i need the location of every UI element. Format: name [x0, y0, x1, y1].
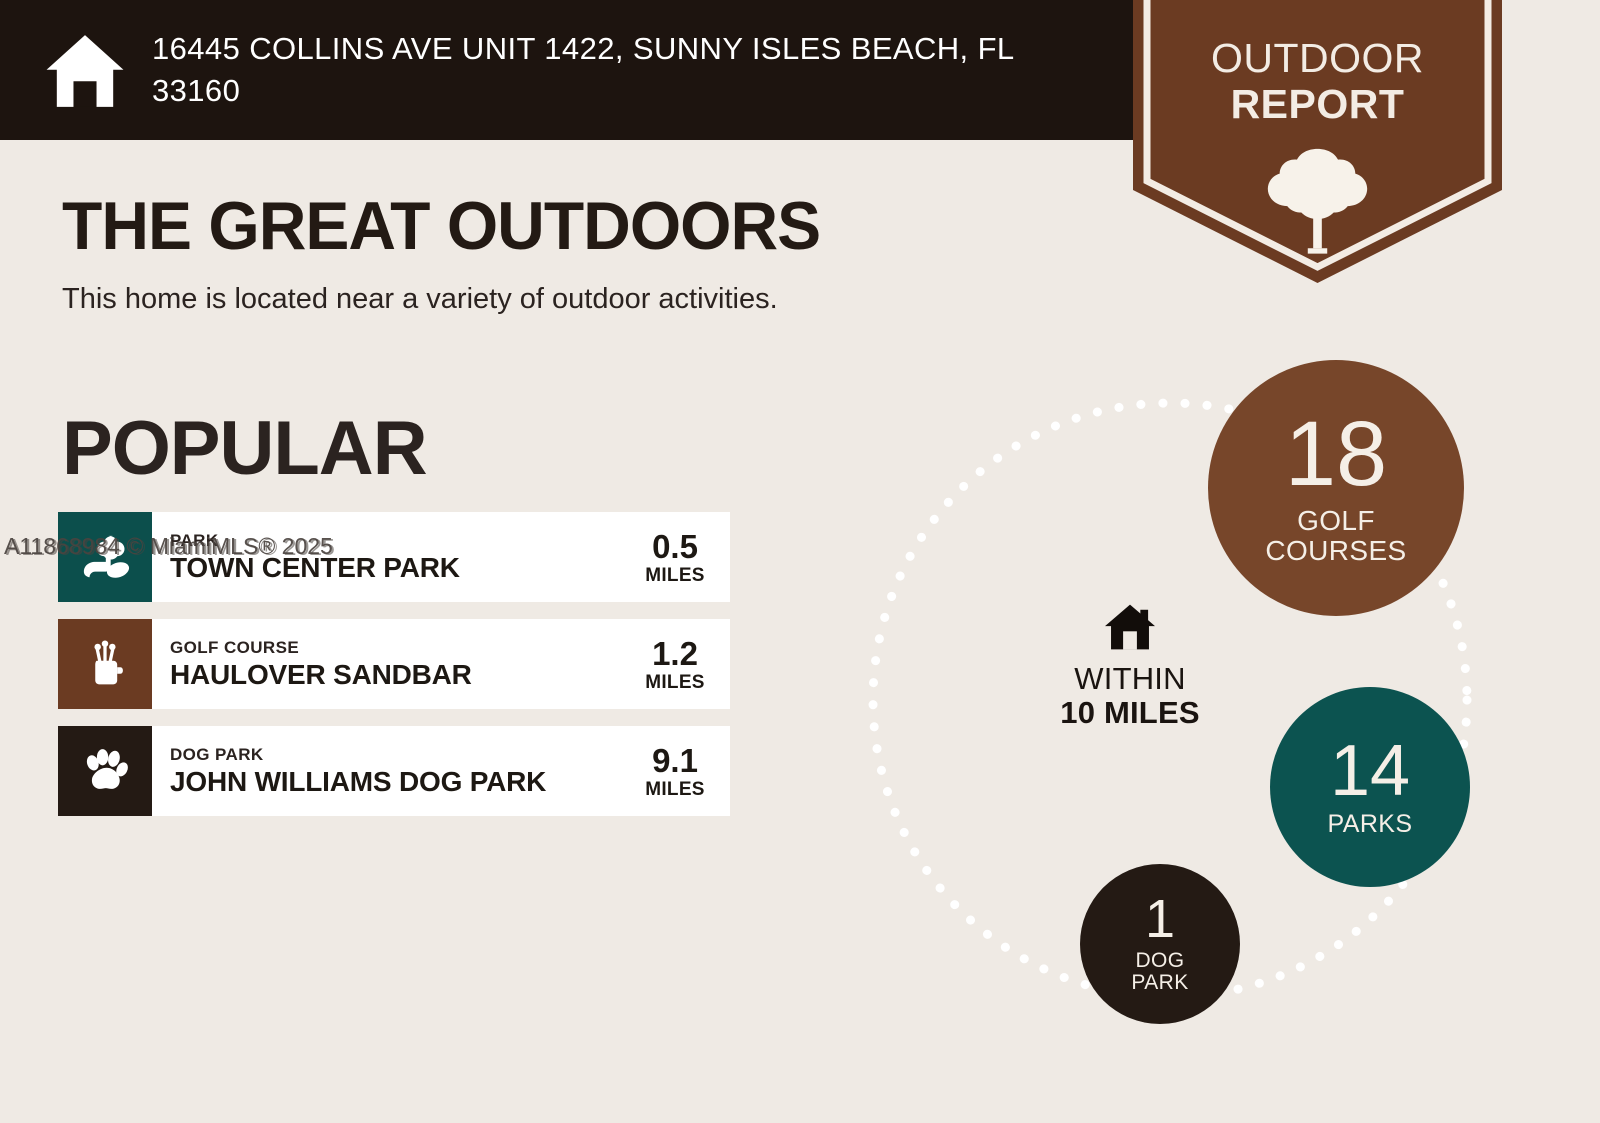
golf-bag-icon [79, 638, 131, 690]
stat-parks-label: PARKS [1328, 811, 1413, 838]
outdoor-report-badge: OUTDOOR REPORT [1133, 0, 1502, 283]
park-tree-icon [79, 531, 131, 583]
paw-print-icon-tile [58, 726, 152, 816]
badge-line2: REPORT [1133, 82, 1502, 128]
stat-dog-label-line1: DOG [1131, 950, 1188, 972]
diagram-center-line2: 10 MILES [1020, 696, 1240, 730]
list-item-distance: 9.1 MILES [628, 726, 730, 816]
list-item-text: DOG PARK JOHN WILLIAMS DOG PARK [152, 726, 628, 816]
golf-bag-icon-tile [58, 619, 152, 709]
park-tree-icon-tile [58, 512, 152, 602]
stat-parks-value: 14 [1330, 737, 1410, 805]
list-item-distance: 0.5 MILES [628, 512, 730, 602]
header-bar: 16445 COLLINS AVE UNIT 1422, SUNNY ISLES… [0, 0, 1150, 140]
popular-list: PARK TOWN CENTER PARK 0.5 MILES GOLF COU… [58, 512, 730, 833]
stat-golf-label-line1: GOLF [1265, 506, 1406, 536]
list-item-category: GOLF COURSE [170, 639, 628, 656]
list-item-category: DOG PARK [170, 746, 628, 763]
section-heading-popular: POPULAR [62, 405, 427, 492]
stat-golf-courses: 18 GOLF COURSES [1208, 360, 1464, 616]
page-subtitle: This home is located near a variety of o… [62, 283, 778, 316]
stat-golf-value: 18 [1285, 411, 1387, 498]
header-address: 16445 COLLINS AVE UNIT 1422, SUNNY ISLES… [152, 28, 1072, 112]
paw-print-icon [79, 745, 131, 797]
house-icon [1102, 602, 1158, 652]
list-item-distance-value: 1.2 [652, 637, 698, 670]
list-item-distance-unit: MILES [645, 673, 705, 692]
list-item-text: PARK TOWN CENTER PARK [152, 512, 628, 602]
list-item[interactable]: GOLF COURSE HAULOVER SANDBAR 1.2 MILES [58, 619, 730, 709]
stat-golf-label: GOLF COURSES [1265, 506, 1406, 565]
list-item[interactable]: PARK TOWN CENTER PARK 0.5 MILES [58, 512, 730, 602]
list-item-name: TOWN CENTER PARK [170, 554, 628, 582]
list-item-name: JOHN WILLIAMS DOG PARK [170, 768, 628, 796]
badge-line1: OUTDOOR [1211, 35, 1424, 81]
diagram-center: WITHIN 10 MILES [1020, 602, 1240, 730]
list-item-text: GOLF COURSE HAULOVER SANDBAR [152, 619, 628, 709]
list-item-distance: 1.2 MILES [628, 619, 730, 709]
stat-parks: 14 PARKS [1270, 687, 1470, 887]
list-item-distance-value: 0.5 [652, 530, 698, 563]
list-item-distance-unit: MILES [645, 566, 705, 585]
list-item-distance-unit: MILES [645, 780, 705, 799]
badge-title: OUTDOOR REPORT [1133, 36, 1502, 128]
stat-dog-label-line2: PARK [1131, 972, 1188, 994]
list-item[interactable]: DOG PARK JOHN WILLIAMS DOG PARK 9.1 MILE… [58, 726, 730, 816]
stat-dog-park: 1 DOG PARK [1080, 864, 1240, 1024]
list-item-name: HAULOVER SANDBAR [170, 661, 628, 689]
amenities-diagram: 18 GOLF COURSES 14 PARKS 1 DOG PARK WITH… [820, 340, 1520, 1060]
list-item-distance-value: 9.1 [652, 744, 698, 777]
list-item-category: PARK [170, 532, 628, 549]
page-title: THE GREAT OUTDOORS [62, 187, 820, 265]
diagram-center-line1: WITHIN [1020, 662, 1240, 696]
stat-dog-label: DOG PARK [1131, 950, 1188, 995]
stat-golf-label-line2: COURSES [1265, 536, 1406, 566]
house-icon [44, 32, 126, 110]
stat-dog-value: 1 [1145, 894, 1175, 945]
